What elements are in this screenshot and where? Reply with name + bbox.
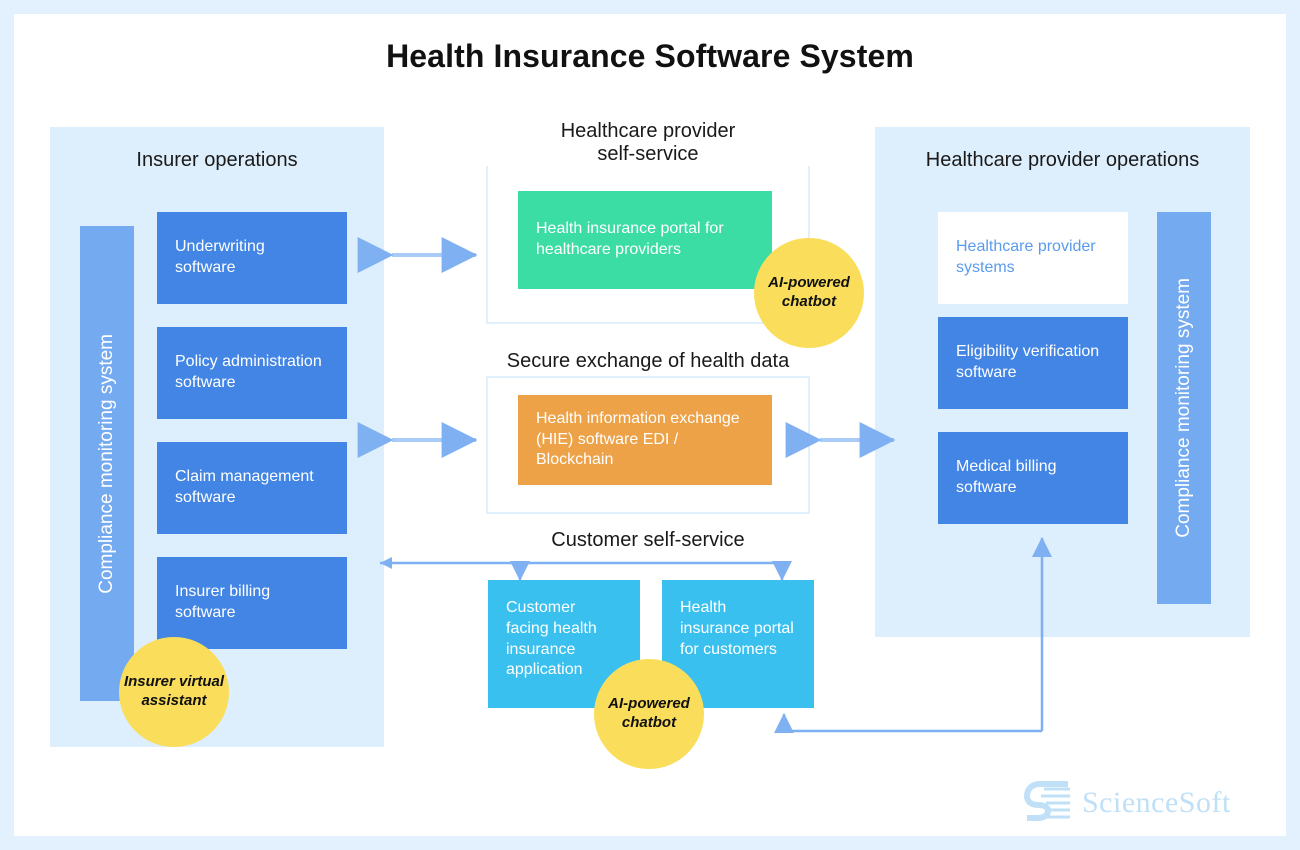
circle-label: Insurer virtual assistant — [119, 673, 229, 711]
sciencesoft-s-icon — [1024, 780, 1072, 826]
box-health-insurance-portal-for-healthcare-providers[interactable]: Health insurance portal for healthcare p… — [518, 191, 772, 289]
page-title: Health Insurance Software System — [14, 38, 1286, 75]
box-label: Healthcare provider systems — [956, 237, 1110, 279]
box-label: Underwriting software — [175, 237, 329, 279]
diagram-canvas: Health Insurance Software System Insurer… — [14, 14, 1286, 836]
title-line-1: Healthcare provider — [486, 120, 810, 143]
box-policy-administration-software[interactable]: Policy administration software — [157, 327, 347, 419]
circle-ai-powered-chatbot-provider[interactable]: AI-powered chatbot — [754, 238, 864, 348]
box-healthcare-provider-systems[interactable]: Healthcare provider systems — [938, 212, 1128, 304]
box-label: Medical billing software — [956, 457, 1110, 499]
box-label: Health insurance portal for customers — [680, 598, 796, 660]
box-label: Health information exchange (HIE) softwa… — [536, 409, 754, 471]
box-label: Customer facing health insurance applica… — [506, 598, 622, 681]
compliance-monitoring-bar-provider: Compliance monitoring system — [1157, 212, 1211, 604]
panel-healthcare-provider-operations-title: Healthcare provider operations — [875, 149, 1250, 172]
box-eligibility-verification-software[interactable]: Eligibility verification software — [938, 317, 1128, 409]
box-label: Eligibility verification software — [956, 342, 1110, 384]
box-insurer-billing-software[interactable]: Insurer billing software — [157, 557, 347, 649]
box-health-information-exchange-software[interactable]: Health information exchange (HIE) softwa… — [518, 395, 772, 485]
circle-label: AI-powered chatbot — [594, 695, 704, 733]
arrow-customer-self-service-bus — [380, 557, 782, 580]
compliance-monitoring-bar-insurer: Compliance monitoring system — [80, 226, 134, 701]
panel-insurer-operations-title: Insurer operations — [50, 149, 384, 172]
frame-healthcare-provider-self-service-title: Healthcare provider self-service — [486, 120, 810, 166]
frame-secure-exchange-title: Secure exchange of health data — [466, 350, 830, 373]
compliance-monitoring-bar-provider-label: Compliance monitoring system — [1173, 278, 1195, 538]
compliance-monitoring-bar-insurer-label: Compliance monitoring system — [96, 334, 118, 594]
box-label: Claim management software — [175, 467, 329, 509]
box-label: Health insurance portal for healthcare p… — [536, 219, 754, 261]
circle-label: AI-powered chatbot — [754, 274, 864, 312]
title-line-2: self-service — [486, 143, 810, 166]
box-label: Insurer billing software — [175, 582, 329, 624]
frame-customer-self-service-title-wrap: Customer self-service — [466, 529, 830, 552]
box-underwriting-software[interactable]: Underwriting software — [157, 212, 347, 304]
frame-secure-exchange-title-wrap: Secure exchange of health data — [466, 350, 830, 373]
box-medical-billing-software[interactable]: Medical billing software — [938, 432, 1128, 524]
frame-customer-self-service-title: Customer self-service — [466, 529, 830, 552]
circle-ai-powered-chatbot-customer[interactable]: AI-powered chatbot — [594, 659, 704, 769]
circle-insurer-virtual-assistant[interactable]: Insurer virtual assistant — [119, 637, 229, 747]
box-label: Policy administration software — [175, 352, 329, 394]
sciencesoft-logo-text: ScienceSoft — [1082, 786, 1231, 820]
sciencesoft-logo: ScienceSoft — [1024, 776, 1264, 830]
box-claim-management-software[interactable]: Claim management software — [157, 442, 347, 534]
